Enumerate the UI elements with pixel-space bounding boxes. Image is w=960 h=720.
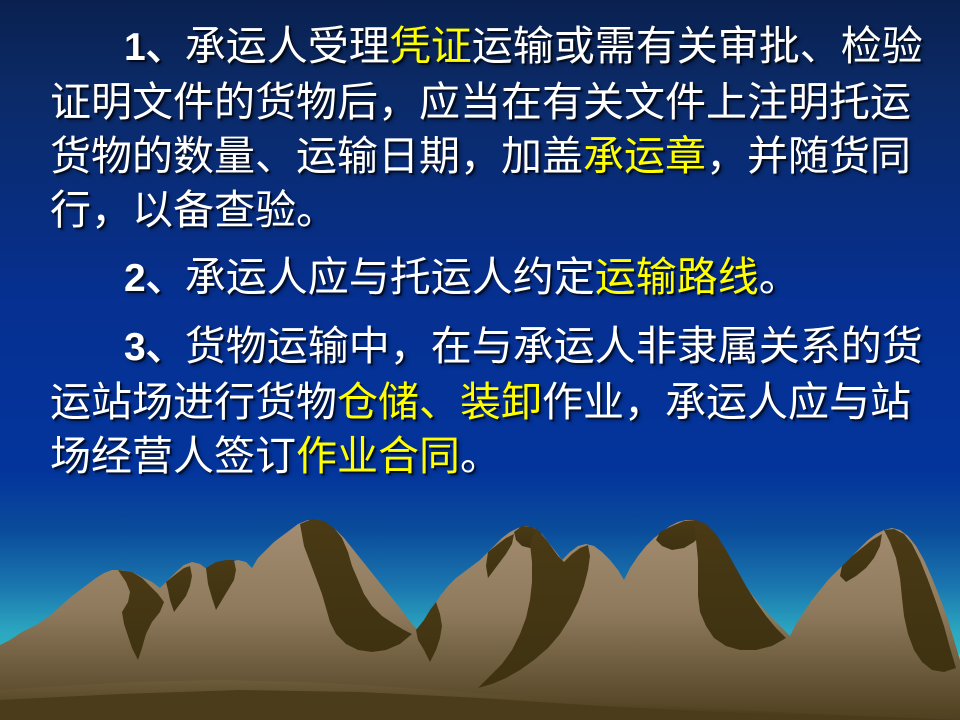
mountain-shadow-center-a <box>300 519 412 652</box>
mountain-ridge-light <box>0 520 960 720</box>
paragraph-3-run-3: 。 <box>460 433 501 479</box>
mountain-shadow-ridge-big <box>478 528 590 688</box>
slide-text-body: 1、承运人受理凭证运输或需有关审批、检验证明文件的货物后，应当在有关文件上注明托… <box>0 0 960 483</box>
paragraph-2-highlight-1: 运输路线 <box>595 254 759 300</box>
paragraph-2-run-1: 承运人应与托运人约定 <box>185 254 595 300</box>
paragraph-2: 2、承运人应与托运人约定运输路线。 <box>0 250 960 306</box>
mountain-shadow-left-a <box>118 570 164 660</box>
paragraph-3-highlight-1: 仓储、装卸 <box>337 379 542 425</box>
paragraph-1: 1、承运人受理凭证运输或需有关审批、检验证明文件的货物后，应当在有关文件上注明托… <box>0 19 960 237</box>
mountain-shadow-center-c <box>486 534 514 578</box>
paragraph-3: 3、货物运输中，在与承运人非隶属关系的货运站场进行货物仓储、装卸作业，承运人应与… <box>0 319 960 483</box>
paragraph-1-run-1: 承运人受理 <box>185 23 390 69</box>
mountain-shadow-right-b <box>694 520 786 650</box>
mountain-shadow-right-c <box>840 534 882 582</box>
mountain-shadow-center-b <box>416 602 442 662</box>
mountain-base-slope <box>0 680 960 720</box>
slide-canvas: 1、承运人受理凭证运输或需有关审批、检验证明文件的货物后，应当在有关文件上注明托… <box>0 0 960 720</box>
paragraph-2-number: 2、 <box>124 257 185 300</box>
mountain-shadow-right-a <box>656 520 706 550</box>
paragraph-1-highlight-2: 承运章 <box>583 133 706 179</box>
mountain-foreground-wedge <box>0 690 960 720</box>
mountain-shadow-left-c <box>206 560 236 610</box>
paragraph-3-number: 3、 <box>124 326 185 369</box>
paragraph-1-highlight-1: 凭证 <box>390 23 472 69</box>
paragraph-1-number: 1、 <box>124 26 185 69</box>
mountain-shadow-left-b <box>166 566 192 612</box>
mountain-shadow-center-d <box>514 526 546 548</box>
mountain-shadow-group <box>118 519 956 688</box>
paragraph-3-highlight-2: 作业合同 <box>296 433 460 479</box>
paragraph-2-run-2: 。 <box>759 254 800 300</box>
mountain-shadow-right-d <box>884 529 956 672</box>
